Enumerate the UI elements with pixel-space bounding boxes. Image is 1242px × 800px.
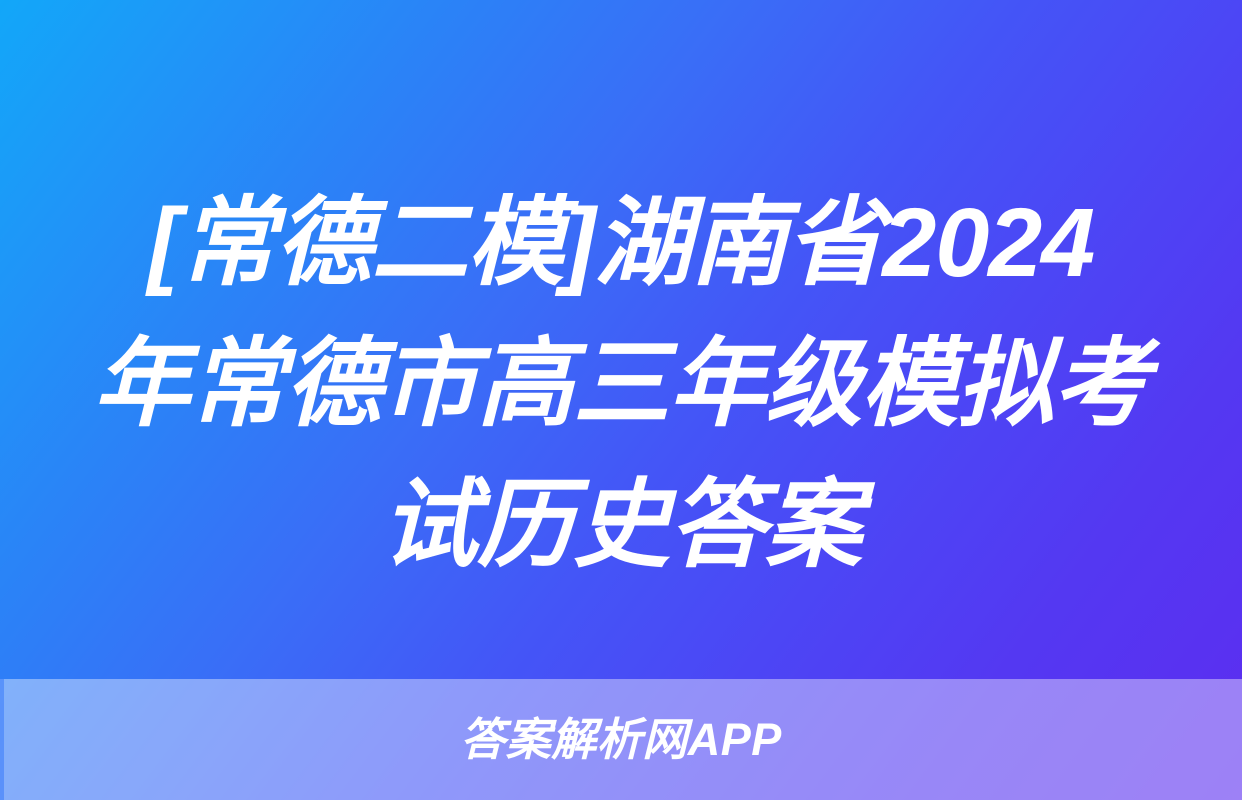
page-title: [常德二模]湖南省2024 年常德市高三年级模拟考 试历史答案: [0, 172, 1242, 595]
title-line-3: 试历史答案: [56, 454, 1186, 595]
app-watermark-label: 答案解析网APP: [460, 715, 782, 765]
footer-band: 答案解析网APP: [0, 679, 1242, 800]
title-line-1: [常德二模]湖南省2024: [56, 172, 1186, 313]
band-left-edge-accent: [0, 679, 4, 800]
poster-canvas: [常德二模]湖南省2024 年常德市高三年级模拟考 试历史答案 答案解析网APP: [0, 0, 1242, 800]
title-line-2: 年常德市高三年级模拟考: [56, 313, 1186, 454]
